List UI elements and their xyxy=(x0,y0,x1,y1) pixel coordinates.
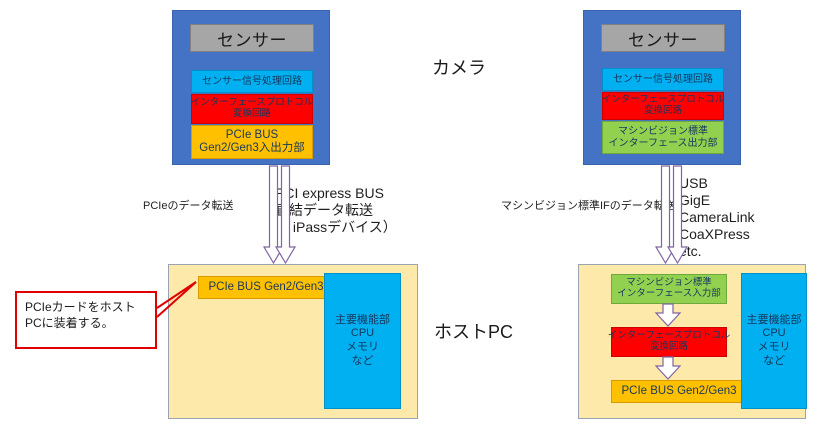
right-link-label-line-5: etc. xyxy=(679,243,754,260)
left-host-pcie-bus-label: PCIe BUS Gen2/Gen3 xyxy=(208,281,323,294)
pcie-card-callout-line-1: PCIeカードをホスト xyxy=(25,300,147,316)
right-host-pc-box: マシンビジョン標準 インターフェース入力部 インターフェースプロトコル 変換回路… xyxy=(578,264,806,419)
diagram-canvas: センサー センサー信号処理回路 インターフェースプロトコル 変換回路 PCIe … xyxy=(0,0,840,427)
right-host-protocol-conversion: インターフェースプロトコル 変換回路 xyxy=(611,327,727,357)
right-link-label-line-4: CoaXPress xyxy=(679,226,754,243)
left-sensor-protocol-conversion: インターフェースプロトコル 変換回路 xyxy=(191,94,313,124)
left-sensor-title: センサー xyxy=(190,24,314,52)
right-link-label-line-1: USB xyxy=(679,175,754,192)
left-host-cpu-line-2: CPU xyxy=(351,327,374,341)
right-link-label-line-2: GigE xyxy=(679,192,754,209)
right-sensor-mv-output-line-2: インターフェース出力部 xyxy=(609,138,718,149)
left-link-label-line-3: （ iPassデバイス） xyxy=(275,219,397,236)
right-sensor-mv-output-line-1: マシンビジョン標準 xyxy=(618,126,708,137)
right-sensor-box: センサー センサー信号処理回路 インターフェースプロトコル 変換回路 マシンビジ… xyxy=(583,10,741,165)
left-host-pc-box: PCIe BUS Gen2/Gen3 主要機能部 CPU メモリ など xyxy=(168,264,418,419)
right-sensor-protocol-conversion-line-2: 変換回路 xyxy=(644,106,682,117)
right-host-protocol-conversion-line-2: 変換回路 xyxy=(650,342,688,353)
right-host-machine-vision-input: マシンビジョン標準 インターフェース入力部 xyxy=(611,274,727,304)
right-sensor-machine-vision-output: マシンビジョン標準 インターフェース出力部 xyxy=(602,121,724,154)
right-host-cpu-box: 主要機能部 CPU メモリ など xyxy=(741,273,807,409)
left-sensor-box: センサー センサー信号処理回路 インターフェースプロトコル 変換回路 PCIe … xyxy=(172,10,330,165)
right-transfer-arrow-1 xyxy=(656,166,675,263)
host-pc-label: ホストPC xyxy=(434,322,513,344)
right-host-cpu-line-3: メモリ xyxy=(758,341,791,355)
left-sensor-pcie-output: PCIe BUS Gen2/Gen3入出力部 xyxy=(191,125,313,159)
right-host-cpu-line-1: 主要機能部 xyxy=(747,314,802,328)
right-host-pcie-bus-label: PCIe BUS Gen2/Gen3 xyxy=(621,385,736,398)
right-sensor-title: センサー xyxy=(601,24,725,52)
left-host-cpu-line-1: 主要機能部 xyxy=(335,314,390,328)
left-sensor-signal-processing: センサー信号処理回路 xyxy=(191,70,313,93)
right-sensor-signal-processing-line-1: センサー信号処理回路 xyxy=(613,74,713,85)
right-link-label-interfaces: USB GigE CameraLink CoaXPress etc. xyxy=(679,175,754,260)
left-link-label-line-2: 直結データ転送 xyxy=(275,202,397,219)
pcie-card-callout: PCIeカードをホスト PCに装着する。 xyxy=(15,291,157,349)
right-host-cpu-line-2: CPU xyxy=(762,327,785,341)
left-host-cpu-box: 主要機能部 CPU メモリ など xyxy=(324,273,401,409)
right-link-label-mv-transfer: マシンビジョン標準IFのデータ転送 xyxy=(501,200,676,213)
left-link-label-line-1: PCI express BUS xyxy=(275,185,397,202)
pcie-card-callout-line-2: PCに装着する。 xyxy=(25,316,147,332)
left-sensor-pcie-output-line-2: Gen2/Gen3入出力部 xyxy=(199,142,304,155)
left-host-pcie-bus: PCIe BUS Gen2/Gen3 xyxy=(198,276,334,299)
left-link-label-pcie-transfer: PCIeのデータ転送 xyxy=(143,200,233,213)
right-host-mv-input-line-2: インターフェース入力部 xyxy=(617,289,720,300)
left-host-cpu-line-4: など xyxy=(352,355,374,369)
right-host-pcie-bus: PCIe BUS Gen2/Gen3 xyxy=(611,380,747,403)
left-link-label-pci-express: PCI express BUS 直結データ転送 （ iPassデバイス） xyxy=(275,185,397,236)
camera-label: カメラ xyxy=(432,58,486,80)
right-sensor-protocol-conversion: インターフェースプロトコル 変換回路 xyxy=(602,92,724,120)
right-sensor-signal-processing: センサー信号処理回路 xyxy=(602,68,724,91)
left-sensor-signal-processing-line-1: センサー信号処理回路 xyxy=(202,76,302,87)
left-sensor-pcie-output-line-1: PCIe BUS xyxy=(226,129,278,142)
right-host-cpu-line-4: など xyxy=(763,355,785,369)
left-host-cpu-line-3: メモリ xyxy=(346,341,379,355)
right-link-label-line-3: CameraLink xyxy=(679,209,754,226)
left-sensor-protocol-conversion-line-2: 変換回路 xyxy=(233,109,271,120)
